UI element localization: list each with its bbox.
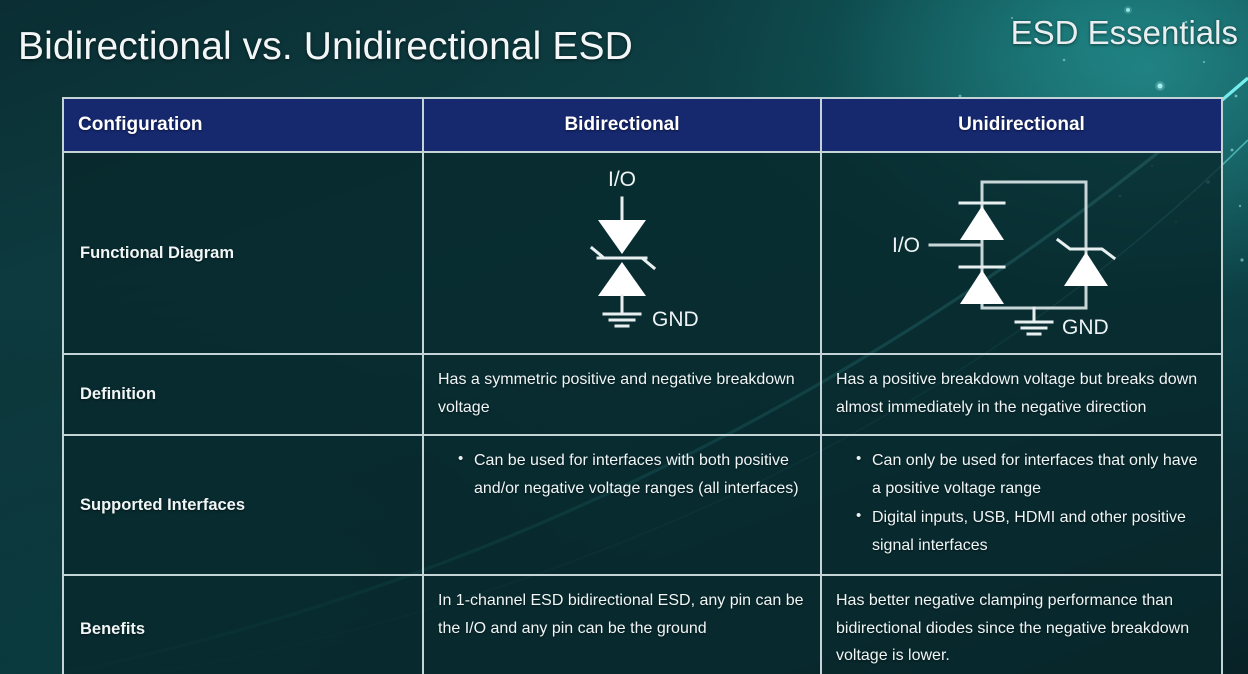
bullet-list: Can only be used for interfaces that onl… (836, 447, 1207, 559)
table-row: Supported Interfaces Can be used for int… (63, 435, 1222, 575)
bidirectional-gnd-label: GND (652, 308, 699, 331)
row-label-definition: Definition (63, 354, 423, 435)
slide-canvas: Bidirectional vs. Unidirectional ESD ESD… (0, 0, 1248, 674)
unidirectional-io-label: I/O (892, 234, 920, 257)
table-header: Configuration Bidirectional Unidirection… (63, 98, 1222, 152)
row-label-functional-diagram: Functional Diagram (63, 152, 423, 354)
column-header-bidirectional: Bidirectional (423, 98, 821, 152)
page-title: Bidirectional vs. Unidirectional ESD (18, 25, 633, 69)
table-row: Functional Diagram (63, 152, 1222, 354)
cell-bidirectional-diagram: I/O GND (423, 152, 821, 354)
table-header-row: Configuration Bidirectional Unidirection… (63, 98, 1222, 152)
list-item: Digital inputs, USB, HDMI and other posi… (856, 504, 1207, 559)
bullet-list: Can be used for interfaces with both pos… (438, 447, 806, 502)
table-row: Definition Has a symmetric positive and … (63, 354, 1222, 435)
row-label-benefits: Benefits (63, 575, 423, 674)
bidirectional-io-label: I/O (608, 168, 636, 191)
cell-benefits-bidirectional: In 1-channel ESD bidirectional ESD, any … (423, 575, 821, 674)
list-item: Can be used for interfaces with both pos… (458, 447, 806, 502)
comparison-table: Configuration Bidirectional Unidirection… (62, 97, 1223, 674)
cell-definition-bidirectional: Has a symmetric positive and negative br… (423, 354, 821, 435)
bidirectional-tvs-diode-diagram: I/O GND (492, 158, 752, 348)
unidirectional-gnd-label: GND (1062, 316, 1109, 339)
slide-kicker-label: ESD Essentials (1011, 14, 1238, 52)
column-header-unidirectional: Unidirectional (821, 98, 1222, 152)
cell-unidirectional-diagram: I/O GND (821, 152, 1222, 354)
cell-benefits-unidirectional: Has better negative clamping performance… (821, 575, 1222, 674)
column-header-configuration: Configuration (63, 98, 423, 152)
cell-definition-unidirectional: Has a positive breakdown voltage but bre… (821, 354, 1222, 435)
unidirectional-diode-array-diagram: I/O GND (872, 158, 1172, 348)
list-item: Can only be used for interfaces that onl… (856, 447, 1207, 502)
row-label-supported-interfaces: Supported Interfaces (63, 435, 423, 575)
table-row: Benefits In 1-channel ESD bidirectional … (63, 575, 1222, 674)
cell-supported-interfaces-unidirectional: Can only be used for interfaces that onl… (821, 435, 1222, 575)
table-body: Functional Diagram (63, 152, 1222, 674)
cell-supported-interfaces-bidirectional: Can be used for interfaces with both pos… (423, 435, 821, 575)
